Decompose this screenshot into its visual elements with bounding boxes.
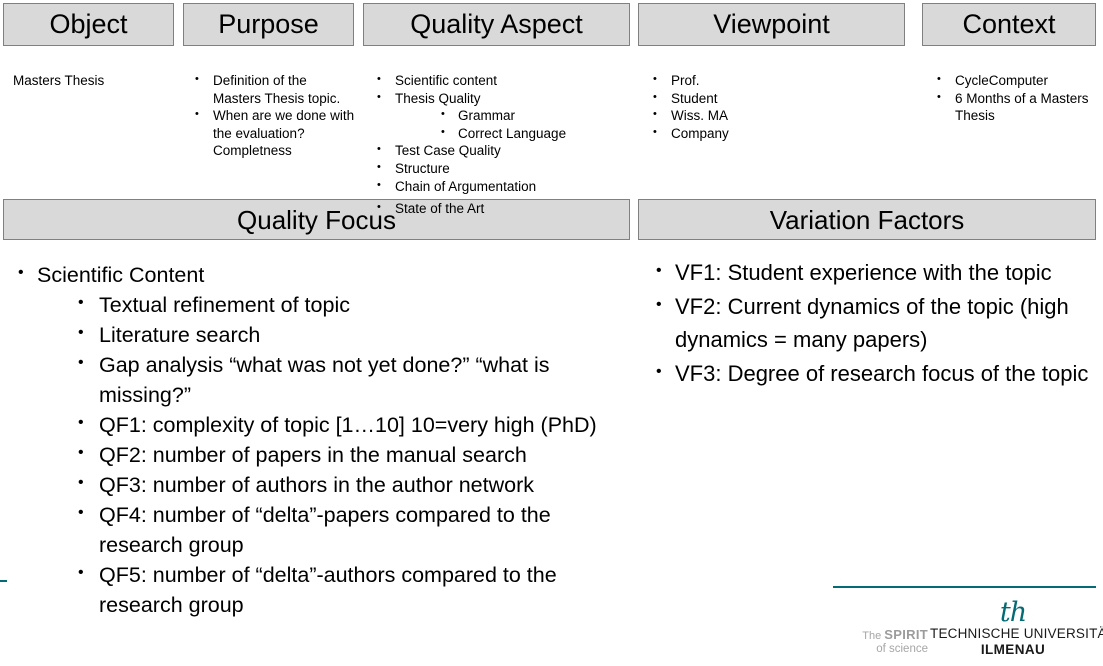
header-label-object: Object bbox=[49, 11, 127, 38]
list-item: Chain of Argumentation bbox=[372, 178, 632, 196]
left-edge-tick bbox=[0, 580, 7, 582]
tu-university-name: TECHNISCHE UNIVERSITÄT bbox=[930, 626, 1096, 642]
list-item: Grammar bbox=[441, 107, 632, 125]
purpose-content: Definition of the Masters Thesis topic. … bbox=[190, 72, 355, 160]
quality-aspect-content: Scientific content Thesis Quality Gramma… bbox=[372, 72, 632, 195]
quality-aspect-sublist: Grammar Correct Language bbox=[395, 107, 632, 142]
list-item: Scientific Content Textual refinement of… bbox=[12, 260, 626, 620]
list-item: QF5: number of “delta”-authors compared … bbox=[78, 560, 626, 620]
header-label-variation-factors: Variation Factors bbox=[770, 207, 965, 233]
quality-aspect-overlapping-item: State of the Art bbox=[372, 200, 484, 218]
header-box-variation-factors: Variation Factors bbox=[638, 199, 1096, 240]
list-item: Test Case Quality bbox=[372, 142, 632, 160]
viewpoint-list: Prof. Student Wiss. MA Company bbox=[648, 72, 898, 142]
list-item-label: Scientific Content bbox=[37, 263, 204, 287]
list-item: Scientific content bbox=[372, 72, 632, 90]
list-item: Correct Language bbox=[441, 125, 632, 143]
header-label-purpose: Purpose bbox=[218, 11, 319, 38]
header-label-viewpoint: Viewpoint bbox=[713, 11, 830, 38]
context-list: CycleComputer 6 Months of a Masters Thes… bbox=[932, 72, 1097, 125]
header-box-quality-focus: Quality Focus bbox=[3, 199, 630, 240]
list-item: Definition of the Masters Thesis topic. bbox=[190, 72, 355, 107]
list-item: QF4: number of “delta”-papers compared t… bbox=[78, 500, 626, 560]
list-item: 6 Months of a Masters Thesis bbox=[932, 90, 1097, 125]
th-monogram-icon: th bbox=[930, 600, 1096, 626]
list-item: QF2: number of papers in the manual sear… bbox=[78, 440, 626, 470]
spirit-word: SPIRIT bbox=[884, 627, 928, 642]
list-item: QF1: complexity of topic [1…10] 10=very … bbox=[78, 410, 626, 440]
header-label-context: Context bbox=[962, 11, 1055, 38]
footer-divider bbox=[833, 586, 1096, 588]
list-item: VF2: Current dynamics of the topic (high… bbox=[650, 290, 1090, 357]
list-item: VF3: Degree of research focus of the top… bbox=[650, 357, 1090, 391]
list-item: QF3: number of authors in the author net… bbox=[78, 470, 626, 500]
list-item: Student bbox=[648, 90, 898, 108]
tu-ilmenau-logo: th TECHNISCHE UNIVERSITÄT ILMENAU bbox=[930, 600, 1096, 658]
object-text: Masters Thesis bbox=[13, 72, 163, 90]
spirit-line-1: The SPIRIT bbox=[840, 628, 928, 643]
header-box-purpose: Purpose bbox=[183, 3, 354, 46]
list-item: Structure bbox=[372, 160, 632, 178]
header-label-quality-aspect: Quality Aspect bbox=[410, 11, 583, 38]
purpose-list: Definition of the Masters Thesis topic. … bbox=[190, 72, 355, 160]
spirit-of-science-logo: The SPIRIT of science bbox=[840, 628, 928, 656]
list-item: Wiss. MA bbox=[648, 107, 898, 125]
spirit-line-2: of science bbox=[840, 643, 928, 656]
tu-city-name: ILMENAU bbox=[930, 642, 1096, 658]
list-item: Company bbox=[648, 125, 898, 143]
list-item-label: Thesis Quality bbox=[395, 91, 481, 106]
list-item: Literature search bbox=[78, 320, 626, 350]
header-box-viewpoint: Viewpoint bbox=[638, 3, 905, 46]
header-box-context: Context bbox=[922, 3, 1096, 46]
viewpoint-content: Prof. Student Wiss. MA Company bbox=[648, 72, 898, 142]
context-content: CycleComputer 6 Months of a Masters Thes… bbox=[932, 72, 1097, 125]
spirit-the: The bbox=[862, 630, 884, 642]
quality-focus-sublist: Textual refinement of topic Literature s… bbox=[37, 290, 626, 620]
quality-focus-list: Scientific Content Textual refinement of… bbox=[12, 260, 626, 620]
list-item: Textual refinement of topic bbox=[78, 290, 626, 320]
list-item: Thesis Quality Grammar Correct Language bbox=[372, 90, 632, 143]
variation-factors-list: VF1: Student experience with the topic V… bbox=[650, 256, 1090, 390]
list-item: Gap analysis “what was not yet done?” “w… bbox=[78, 350, 626, 410]
quality-aspect-list: Scientific content Thesis Quality Gramma… bbox=[372, 72, 632, 195]
header-box-object: Object bbox=[3, 3, 174, 46]
header-box-quality-aspect: Quality Aspect bbox=[363, 3, 630, 46]
object-content: Masters Thesis bbox=[13, 72, 163, 90]
list-item: Prof. bbox=[648, 72, 898, 90]
list-item: When are we done with the evaluation? Co… bbox=[190, 107, 355, 160]
list-item: CycleComputer bbox=[932, 72, 1097, 90]
list-item: VF1: Student experience with the topic bbox=[650, 256, 1090, 290]
